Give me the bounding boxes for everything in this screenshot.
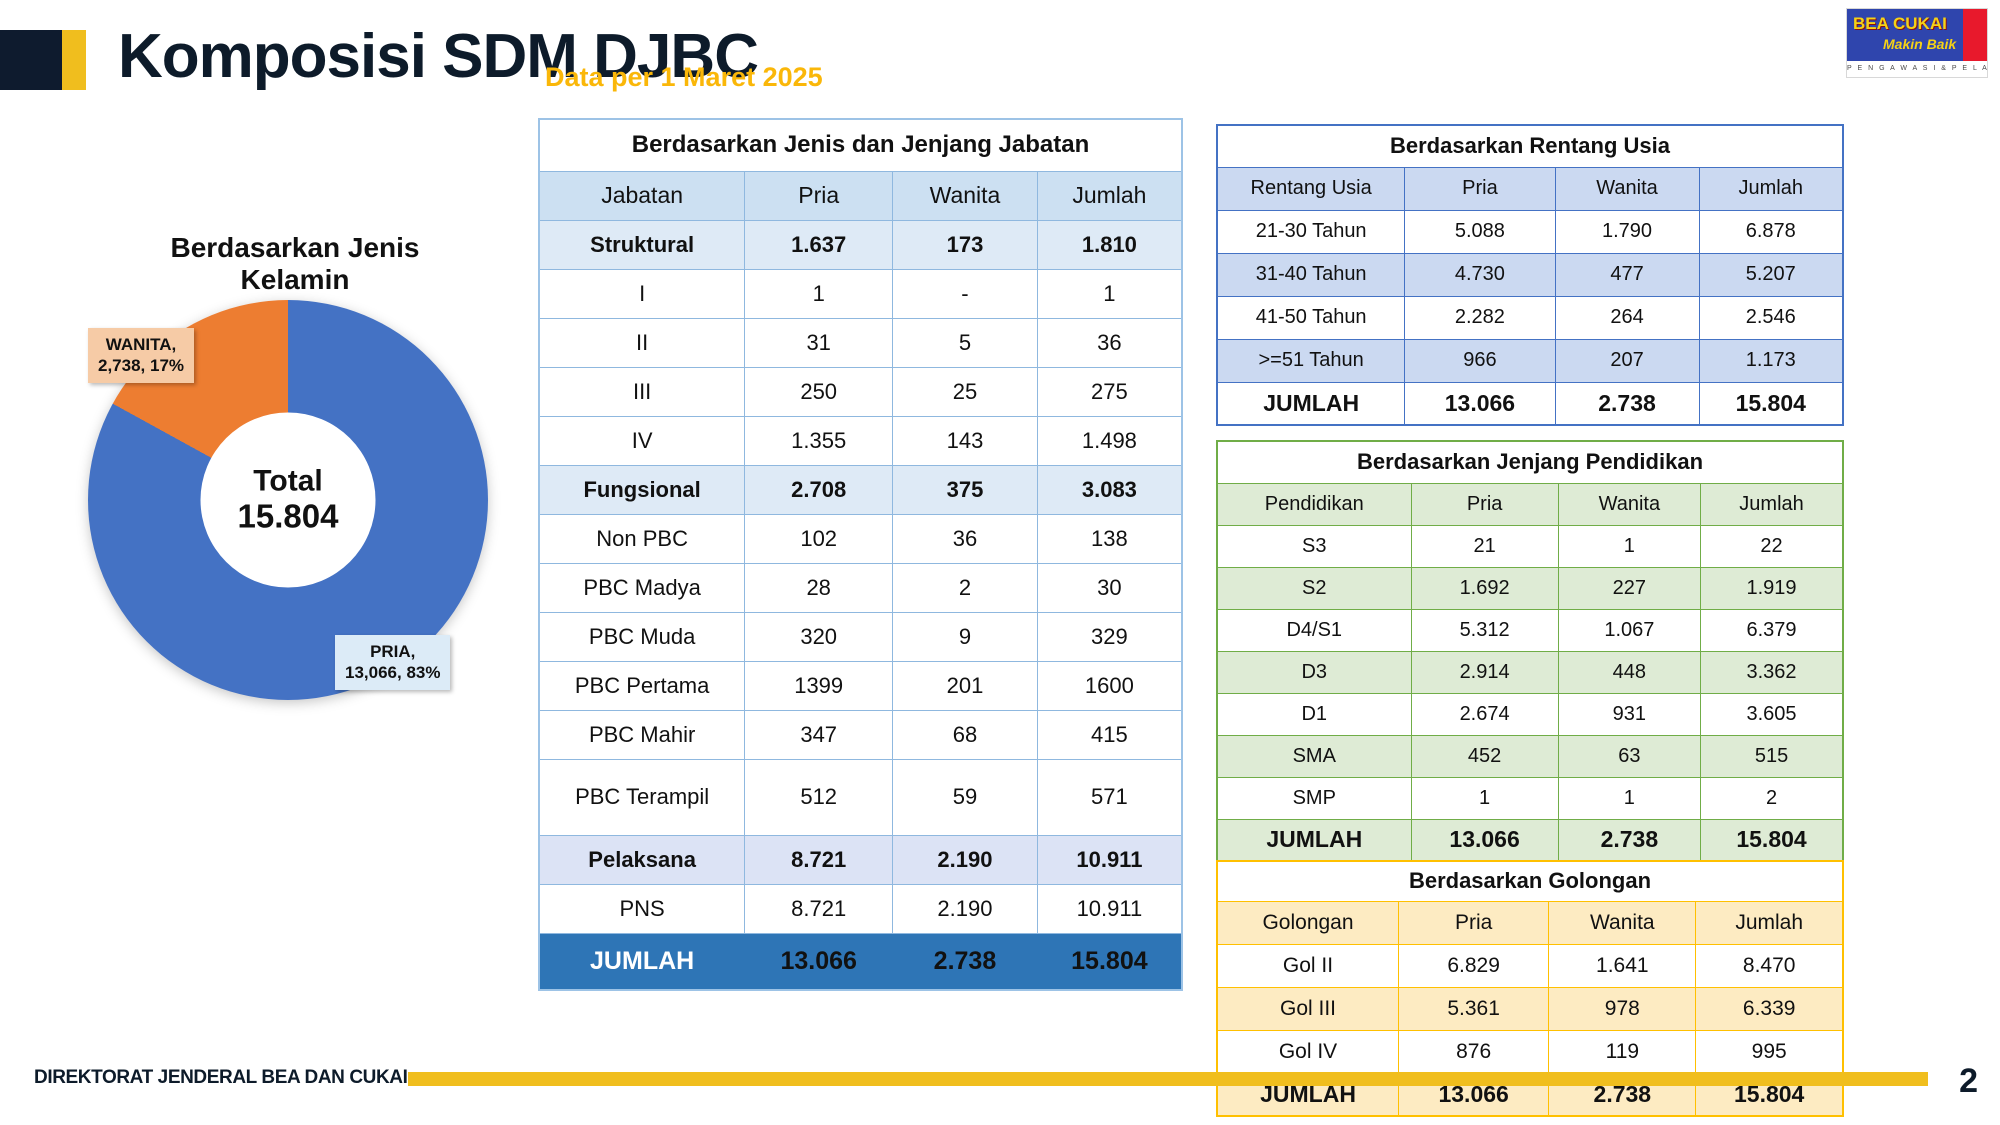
row-value-cell: 173 bbox=[893, 220, 1038, 269]
col-header-pria: Pria bbox=[745, 171, 893, 220]
logo-main-area: BEA CUKAI Makin Baik bbox=[1847, 9, 1987, 61]
row-value-cell: 2 bbox=[1701, 777, 1843, 819]
row-value-cell: 5.312 bbox=[1411, 609, 1558, 651]
footer-accent-bar bbox=[408, 1072, 1928, 1086]
total-value-cell: 2.738 bbox=[1558, 819, 1700, 861]
total-label-cell: JUMLAH bbox=[539, 933, 745, 990]
row-label-cell: Pelaksana bbox=[539, 835, 745, 884]
col-header-jabatan: Jabatan bbox=[539, 171, 745, 220]
col-header-pria: Pria bbox=[1405, 167, 1555, 210]
callout-pria-line1: PRIA, bbox=[345, 641, 440, 662]
row-label-cell: Gol II bbox=[1217, 944, 1399, 987]
table-total-row: JUMLAH13.0662.73815.804 bbox=[1217, 382, 1843, 425]
table-row: I1-1 bbox=[539, 269, 1182, 318]
row-label-cell: Gol III bbox=[1217, 987, 1399, 1030]
row-value-cell: 477 bbox=[1555, 253, 1699, 296]
page-number: 2 bbox=[1959, 1062, 1978, 1101]
row-value-cell: 36 bbox=[893, 514, 1038, 563]
row-value-cell: 6.379 bbox=[1701, 609, 1843, 651]
row-label-cell: SMA bbox=[1217, 735, 1411, 777]
table-row: IV1.3551431.498 bbox=[539, 416, 1182, 465]
row-value-cell: 3.083 bbox=[1037, 465, 1182, 514]
table-jenjang-pendidikan: Berdasarkan Jenjang Pendidikan Pendidika… bbox=[1216, 440, 1844, 862]
callout-pria-line2: 13,066, 83% bbox=[345, 662, 440, 683]
table-row: III25025275 bbox=[539, 367, 1182, 416]
row-label-cell: Fungsional bbox=[539, 465, 745, 514]
brand-mark bbox=[0, 30, 86, 90]
row-label-cell: 31-40 Tahun bbox=[1217, 253, 1405, 296]
table-golongan-caption: Berdasarkan Golongan bbox=[1217, 861, 1843, 901]
row-value-cell: 59 bbox=[893, 759, 1038, 835]
table-row: Gol III5.3619786.339 bbox=[1217, 987, 1843, 1030]
row-value-cell: 275 bbox=[1037, 367, 1182, 416]
row-value-cell: 2.190 bbox=[893, 884, 1038, 933]
col-header-wanita: Wanita bbox=[1555, 167, 1699, 210]
col-header-wanita: Wanita bbox=[1549, 901, 1696, 944]
row-value-cell: 22 bbox=[1701, 525, 1843, 567]
col-header-pria: Pria bbox=[1399, 901, 1549, 944]
table-rentang-usia-body: Berdasarkan Rentang Usia Rentang Usia Pr… bbox=[1217, 125, 1843, 425]
row-value-cell: 30 bbox=[1037, 563, 1182, 612]
row-label-cell: PNS bbox=[539, 884, 745, 933]
col-header-golongan: Golongan bbox=[1217, 901, 1399, 944]
row-value-cell: 227 bbox=[1558, 567, 1700, 609]
row-label-cell: S3 bbox=[1217, 525, 1411, 567]
table-row: Fungsional2.7083753.083 bbox=[539, 465, 1182, 514]
total-value-cell: 13.066 bbox=[745, 933, 893, 990]
row-value-cell: - bbox=[893, 269, 1038, 318]
brand-navy-block bbox=[0, 30, 62, 90]
row-value-cell: 6.878 bbox=[1699, 210, 1843, 253]
row-label-cell: PBC Pertama bbox=[539, 661, 745, 710]
row-value-cell: 2.674 bbox=[1411, 693, 1558, 735]
table-total-row: JUMLAH13.0662.73815.804 bbox=[539, 933, 1182, 990]
row-value-cell: 4.730 bbox=[1405, 253, 1555, 296]
row-value-cell: 1.355 bbox=[745, 416, 893, 465]
row-value-cell: 571 bbox=[1037, 759, 1182, 835]
table-jenjang-pendidikan-body: Berdasarkan Jenjang Pendidikan Pendidika… bbox=[1217, 441, 1843, 861]
table-usia-caption-row: Berdasarkan Rentang Usia bbox=[1217, 125, 1843, 167]
logo-motto: P E N G A W A S I & P E L A Y A N I bbox=[1847, 61, 1987, 77]
row-value-cell: 8.721 bbox=[745, 884, 893, 933]
row-value-cell: 2.190 bbox=[893, 835, 1038, 884]
row-label-cell: S2 bbox=[1217, 567, 1411, 609]
row-value-cell: 9 bbox=[893, 612, 1038, 661]
table-row: Non PBC10236138 bbox=[539, 514, 1182, 563]
row-label-cell: IV bbox=[539, 416, 745, 465]
row-value-cell: 2.282 bbox=[1405, 296, 1555, 339]
row-value-cell: 995 bbox=[1696, 1030, 1843, 1073]
data-date-subtitle: Data per 1 Maret 2025 bbox=[545, 62, 823, 93]
total-value-cell: 13.066 bbox=[1405, 382, 1555, 425]
row-label-cell: II bbox=[539, 318, 745, 367]
row-value-cell: 1.790 bbox=[1555, 210, 1699, 253]
col-header-jumlah: Jumlah bbox=[1701, 483, 1843, 525]
row-value-cell: 2.546 bbox=[1699, 296, 1843, 339]
col-header-jumlah: Jumlah bbox=[1699, 167, 1843, 210]
table-row: Gol II6.8291.6418.470 bbox=[1217, 944, 1843, 987]
total-value-cell: 2.738 bbox=[1555, 382, 1699, 425]
row-value-cell: 8.470 bbox=[1696, 944, 1843, 987]
row-label-cell: D1 bbox=[1217, 693, 1411, 735]
donut-center: Total 15.804 bbox=[201, 413, 376, 588]
table-row: SMA45263515 bbox=[1217, 735, 1843, 777]
col-header-jumlah: Jumlah bbox=[1696, 901, 1843, 944]
row-value-cell: 1.067 bbox=[1558, 609, 1700, 651]
brand-gold-block bbox=[62, 30, 86, 90]
table-golongan-header-row: Golongan Pria Wanita Jumlah bbox=[1217, 901, 1843, 944]
total-label-cell: JUMLAH bbox=[1217, 819, 1411, 861]
row-value-cell: 68 bbox=[893, 710, 1038, 759]
logo-red-field bbox=[1963, 9, 1987, 61]
row-label-cell: I bbox=[539, 269, 745, 318]
donut-callout-wanita: WANITA, 2,738, 17% bbox=[88, 328, 194, 383]
table-usia-caption: Berdasarkan Rentang Usia bbox=[1217, 125, 1843, 167]
table-rentang-usia: Berdasarkan Rentang Usia Rentang Usia Pr… bbox=[1216, 124, 1844, 426]
table-jabatan-body: Berdasarkan Jenis dan Jenjang Jabatan Ja… bbox=[539, 119, 1182, 990]
callout-wanita-line1: WANITA, bbox=[98, 334, 184, 355]
row-label-cell: PBC Muda bbox=[539, 612, 745, 661]
col-header-pria: Pria bbox=[1411, 483, 1558, 525]
row-value-cell: 1.173 bbox=[1699, 339, 1843, 382]
col-header-jumlah: Jumlah bbox=[1037, 171, 1182, 220]
row-value-cell: 448 bbox=[1558, 651, 1700, 693]
row-value-cell: 1.692 bbox=[1411, 567, 1558, 609]
col-header-wanita: Wanita bbox=[893, 171, 1038, 220]
table-pendidikan-caption: Berdasarkan Jenjang Pendidikan bbox=[1217, 441, 1843, 483]
total-label-cell: JUMLAH bbox=[1217, 382, 1405, 425]
table-row: >=51 Tahun9662071.173 bbox=[1217, 339, 1843, 382]
footer-organization: DIREKTORAT JENDERAL BEA DAN CUKAI bbox=[34, 1067, 408, 1089]
row-value-cell: 5.088 bbox=[1405, 210, 1555, 253]
table-golongan-caption-row: Berdasarkan Golongan bbox=[1217, 861, 1843, 901]
row-label-cell: PBC Madya bbox=[539, 563, 745, 612]
table-row: PNS8.7212.19010.911 bbox=[539, 884, 1182, 933]
row-value-cell: 978 bbox=[1549, 987, 1696, 1030]
row-value-cell: 2 bbox=[893, 563, 1038, 612]
row-value-cell: 21 bbox=[1411, 525, 1558, 567]
donut-callout-pria: PRIA, 13,066, 83% bbox=[335, 635, 450, 690]
row-label-cell: 21-30 Tahun bbox=[1217, 210, 1405, 253]
donut-center-value: 15.804 bbox=[238, 498, 339, 535]
table-pendidikan-caption-row: Berdasarkan Jenjang Pendidikan bbox=[1217, 441, 1843, 483]
row-value-cell: 1.498 bbox=[1037, 416, 1182, 465]
row-value-cell: 207 bbox=[1555, 339, 1699, 382]
row-value-cell: 102 bbox=[745, 514, 893, 563]
row-label-cell: Struktural bbox=[539, 220, 745, 269]
table-row: D4/S15.3121.0676.379 bbox=[1217, 609, 1843, 651]
col-header-rentang-usia: Rentang Usia bbox=[1217, 167, 1405, 210]
row-label-cell: SMP bbox=[1217, 777, 1411, 819]
logo-blue-field: BEA CUKAI Makin Baik bbox=[1847, 9, 1963, 61]
table-row: 41-50 Tahun2.2822642.546 bbox=[1217, 296, 1843, 339]
row-value-cell: 2.914 bbox=[1411, 651, 1558, 693]
total-value-cell: 2.738 bbox=[893, 933, 1038, 990]
row-value-cell: 2.708 bbox=[745, 465, 893, 514]
table-row: D12.6749313.605 bbox=[1217, 693, 1843, 735]
row-value-cell: 119 bbox=[1549, 1030, 1696, 1073]
row-value-cell: 1399 bbox=[745, 661, 893, 710]
table-total-row: JUMLAH13.0662.73815.804 bbox=[1217, 819, 1843, 861]
table-row: Pelaksana8.7212.19010.911 bbox=[539, 835, 1182, 884]
row-label-cell: D4/S1 bbox=[1217, 609, 1411, 651]
table-row: SMP112 bbox=[1217, 777, 1843, 819]
total-value-cell: 15.804 bbox=[1699, 382, 1843, 425]
row-value-cell: 28 bbox=[745, 563, 893, 612]
row-value-cell: 320 bbox=[745, 612, 893, 661]
row-value-cell: 966 bbox=[1405, 339, 1555, 382]
row-value-cell: 452 bbox=[1411, 735, 1558, 777]
row-value-cell: 1 bbox=[1558, 777, 1700, 819]
row-value-cell: 264 bbox=[1555, 296, 1699, 339]
row-value-cell: 375 bbox=[893, 465, 1038, 514]
col-header-wanita: Wanita bbox=[1558, 483, 1700, 525]
callout-wanita-line2: 2,738, 17% bbox=[98, 355, 184, 376]
table-row: 21-30 Tahun5.0881.7906.878 bbox=[1217, 210, 1843, 253]
total-value-cell: 15.804 bbox=[1037, 933, 1182, 990]
total-value-cell: 15.804 bbox=[1701, 819, 1843, 861]
row-value-cell: 1 bbox=[745, 269, 893, 318]
row-label-cell: Gol IV bbox=[1217, 1030, 1399, 1073]
row-value-cell: 10.911 bbox=[1037, 884, 1182, 933]
row-value-cell: 1.641 bbox=[1549, 944, 1696, 987]
table-row: PBC Mahir34768415 bbox=[539, 710, 1182, 759]
row-label-cell: PBC Terampil bbox=[539, 759, 745, 835]
row-label-cell: PBC Mahir bbox=[539, 710, 745, 759]
row-label-cell: Non PBC bbox=[539, 514, 745, 563]
row-value-cell: 515 bbox=[1701, 735, 1843, 777]
row-value-cell: 5.207 bbox=[1699, 253, 1843, 296]
table-row: 31-40 Tahun4.7304775.207 bbox=[1217, 253, 1843, 296]
row-value-cell: 1 bbox=[1037, 269, 1182, 318]
row-value-cell: 329 bbox=[1037, 612, 1182, 661]
row-value-cell: 5 bbox=[893, 318, 1038, 367]
row-value-cell: 31 bbox=[745, 318, 893, 367]
logo-name: BEA CUKAI bbox=[1853, 14, 1947, 34]
table-row: II31536 bbox=[539, 318, 1182, 367]
row-value-cell: 1.919 bbox=[1701, 567, 1843, 609]
row-value-cell: 347 bbox=[745, 710, 893, 759]
bea-cukai-logo: BEA CUKAI Makin Baik P E N G A W A S I &… bbox=[1846, 8, 1988, 78]
table-row: D32.9144483.362 bbox=[1217, 651, 1843, 693]
row-value-cell: 143 bbox=[893, 416, 1038, 465]
table-jabatan-header-row: Jabatan Pria Wanita Jumlah bbox=[539, 171, 1182, 220]
row-value-cell: 415 bbox=[1037, 710, 1182, 759]
slide-root: Komposisi SDM DJBC Data per 1 Maret 2025… bbox=[0, 0, 2000, 1125]
row-value-cell: 250 bbox=[745, 367, 893, 416]
table-row: PBC Muda3209329 bbox=[539, 612, 1182, 661]
table-row: S21.6922271.919 bbox=[1217, 567, 1843, 609]
row-value-cell: 5.361 bbox=[1399, 987, 1549, 1030]
table-row: PBC Madya28230 bbox=[539, 563, 1182, 612]
row-value-cell: 8.721 bbox=[745, 835, 893, 884]
table-row: S321122 bbox=[1217, 525, 1843, 567]
row-value-cell: 1.637 bbox=[745, 220, 893, 269]
row-value-cell: 138 bbox=[1037, 514, 1182, 563]
row-value-cell: 10.911 bbox=[1037, 835, 1182, 884]
row-value-cell: 6.339 bbox=[1696, 987, 1843, 1030]
row-value-cell: 1 bbox=[1411, 777, 1558, 819]
row-value-cell: 3.362 bbox=[1701, 651, 1843, 693]
row-value-cell: 63 bbox=[1558, 735, 1700, 777]
donut-chart-title: Berdasarkan Jenis Kelamin bbox=[130, 232, 460, 296]
row-value-cell: 201 bbox=[893, 661, 1038, 710]
table-row: PBC Pertama13992011600 bbox=[539, 661, 1182, 710]
row-value-cell: 6.829 bbox=[1399, 944, 1549, 987]
table-jabatan-caption-row: Berdasarkan Jenis dan Jenjang Jabatan bbox=[539, 119, 1182, 171]
table-jabatan: Berdasarkan Jenis dan Jenjang Jabatan Ja… bbox=[538, 118, 1183, 991]
row-value-cell: 1 bbox=[1558, 525, 1700, 567]
row-label-cell: 41-50 Tahun bbox=[1217, 296, 1405, 339]
row-label-cell: D3 bbox=[1217, 651, 1411, 693]
row-value-cell: 36 bbox=[1037, 318, 1182, 367]
row-value-cell: 3.605 bbox=[1701, 693, 1843, 735]
table-row: Struktural1.6371731.810 bbox=[539, 220, 1182, 269]
col-header-pendidikan: Pendidikan bbox=[1217, 483, 1411, 525]
donut-center-label: Total bbox=[253, 465, 322, 499]
total-value-cell: 13.066 bbox=[1411, 819, 1558, 861]
table-jabatan-caption: Berdasarkan Jenis dan Jenjang Jabatan bbox=[539, 119, 1182, 171]
table-pendidikan-header-row: Pendidikan Pria Wanita Jumlah bbox=[1217, 483, 1843, 525]
row-value-cell: 1600 bbox=[1037, 661, 1182, 710]
table-row: Gol IV876119995 bbox=[1217, 1030, 1843, 1073]
row-value-cell: 1.810 bbox=[1037, 220, 1182, 269]
row-value-cell: 512 bbox=[745, 759, 893, 835]
table-usia-header-row: Rentang Usia Pria Wanita Jumlah bbox=[1217, 167, 1843, 210]
row-label-cell: >=51 Tahun bbox=[1217, 339, 1405, 382]
row-label-cell: III bbox=[539, 367, 745, 416]
row-value-cell: 25 bbox=[893, 367, 1038, 416]
table-row: PBC Terampil51259571 bbox=[539, 759, 1182, 835]
logo-tagline: Makin Baik bbox=[1883, 36, 1956, 52]
row-value-cell: 931 bbox=[1558, 693, 1700, 735]
row-value-cell: 876 bbox=[1399, 1030, 1549, 1073]
